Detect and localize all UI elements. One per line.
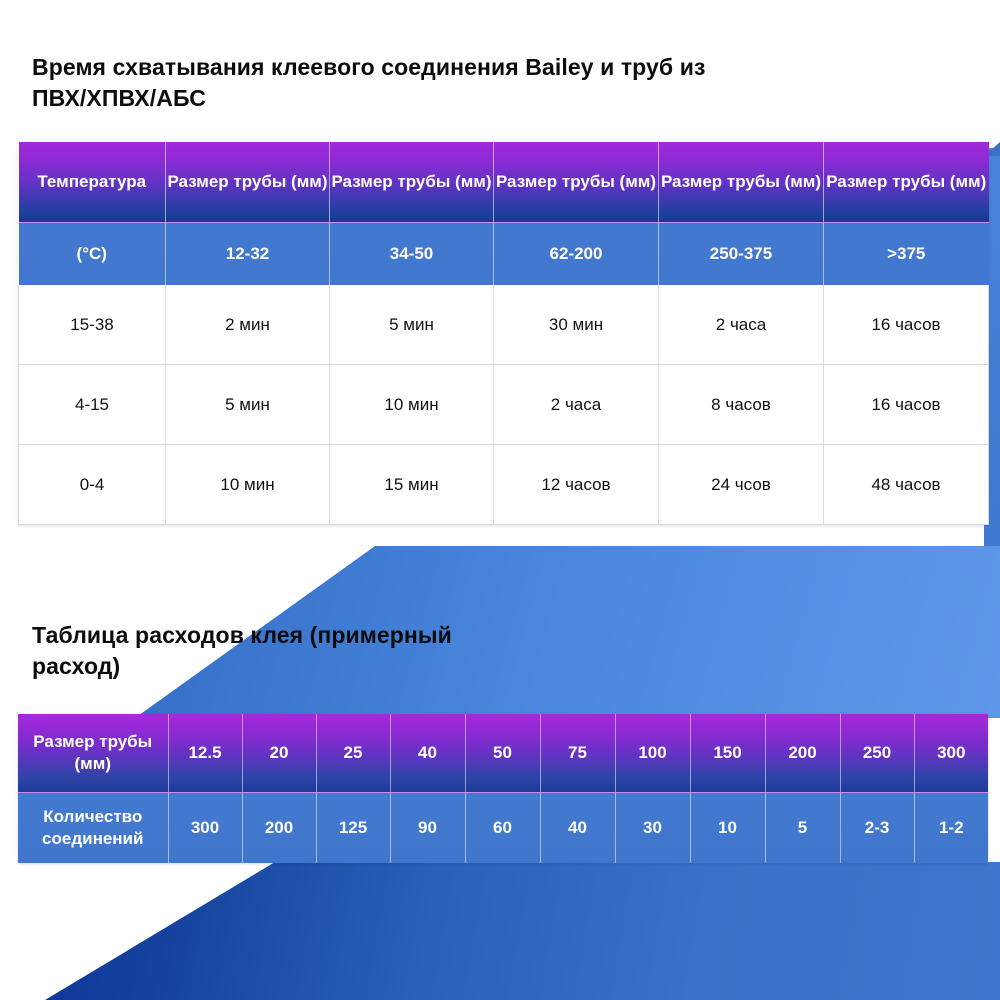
column-header-pipe-size-3: Размер трубы (мм)	[494, 142, 659, 223]
column-header-pipe-size-1: Размер трубы (мм)	[166, 142, 330, 223]
usage-table-title: Таблица расходов клея (примерный расход)	[32, 620, 452, 682]
row-label-joint-count: Количество соединений	[18, 793, 168, 864]
table-subheader-row: (°C) 12-32 34-50 62-200 250-375 >375	[19, 223, 989, 286]
cell-value: 2 часа	[494, 365, 659, 445]
cell-joints: 5	[765, 793, 840, 864]
cell-joints: 60	[465, 793, 540, 864]
column-header-pipe-size-4: Размер трубы (мм)	[659, 142, 824, 223]
cell-size: 20	[242, 714, 316, 793]
cell-temperature: 4-15	[19, 365, 166, 445]
cell-value: 16 часов	[824, 285, 989, 365]
table-row: 15-38 2 мин 5 мин 30 мин 2 часа 16 часов	[19, 285, 989, 365]
cell-joints: 2-3	[840, 793, 914, 864]
cell-size: 12.5	[168, 714, 242, 793]
cell-value: 12 часов	[494, 445, 659, 525]
cell-value: 30 мин	[494, 285, 659, 365]
cell-joints: 125	[316, 793, 390, 864]
cell-joints: 40	[540, 793, 615, 864]
cell-joints: 1-2	[914, 793, 988, 864]
cell-temperature: 0-4	[19, 445, 166, 525]
cell-value: 10 мин	[166, 445, 330, 525]
usage-size-row: Размер трубы (мм) 12.5 20 25 40 50 75 10…	[18, 714, 988, 793]
cell-joints: 200	[242, 793, 316, 864]
column-header-pipe-size-2: Размер трубы (мм)	[330, 142, 494, 223]
cell-joints: 300	[168, 793, 242, 864]
decorative-bottom-blue-diagonal	[0, 862, 1000, 1000]
column-header-pipe-size-5: Размер трубы (мм)	[824, 142, 989, 223]
cell-size: 200	[765, 714, 840, 793]
cell-value: 48 часов	[824, 445, 989, 525]
cell-size: 25	[316, 714, 390, 793]
cell-value: 5 мин	[330, 285, 494, 365]
subheader-range-5: >375	[824, 223, 989, 286]
cell-size: 75	[540, 714, 615, 793]
subheader-range-2: 34-50	[330, 223, 494, 286]
cell-value: 5 мин	[166, 365, 330, 445]
cell-value: 10 мин	[330, 365, 494, 445]
page-root: Время схватывания клеевого соединения Ba…	[0, 0, 1000, 1000]
cell-value: 24 чсов	[659, 445, 824, 525]
table-row: 0-4 10 мин 15 мин 12 часов 24 чсов 48 ча…	[19, 445, 989, 525]
cell-joints: 90	[390, 793, 465, 864]
cell-value: 15 мин	[330, 445, 494, 525]
cell-joints: 10	[690, 793, 765, 864]
cell-size: 40	[390, 714, 465, 793]
cell-size: 250	[840, 714, 914, 793]
cell-value: 16 часов	[824, 365, 989, 445]
subheader-range-4: 250-375	[659, 223, 824, 286]
cell-size: 150	[690, 714, 765, 793]
row-label-pipe-size: Размер трубы (мм)	[18, 714, 168, 793]
cell-temperature: 15-38	[19, 285, 166, 365]
cell-value: 2 часа	[659, 285, 824, 365]
cell-value: 8 часов	[659, 365, 824, 445]
cell-joints: 30	[615, 793, 690, 864]
subheader-unit-celsius: (°C)	[19, 223, 166, 286]
usage-table: Размер трубы (мм) 12.5 20 25 40 50 75 10…	[18, 714, 988, 863]
table-header-row: Температура Размер трубы (мм) Размер тру…	[19, 142, 989, 223]
setting-time-table: Температура Размер трубы (мм) Размер тру…	[18, 142, 989, 525]
subheader-range-1: 12-32	[166, 223, 330, 286]
setting-time-title: Время схватывания клеевого соединения Ba…	[32, 52, 722, 114]
cell-value: 2 мин	[166, 285, 330, 365]
cell-size: 50	[465, 714, 540, 793]
table-row: 4-15 5 мин 10 мин 2 часа 8 часов 16 часо…	[19, 365, 989, 445]
column-header-temperature: Температура	[19, 142, 166, 223]
cell-size: 300	[914, 714, 988, 793]
cell-size: 100	[615, 714, 690, 793]
usage-joints-row: Количество соединений 300 200 125 90 60 …	[18, 793, 988, 864]
subheader-range-3: 62-200	[494, 223, 659, 286]
